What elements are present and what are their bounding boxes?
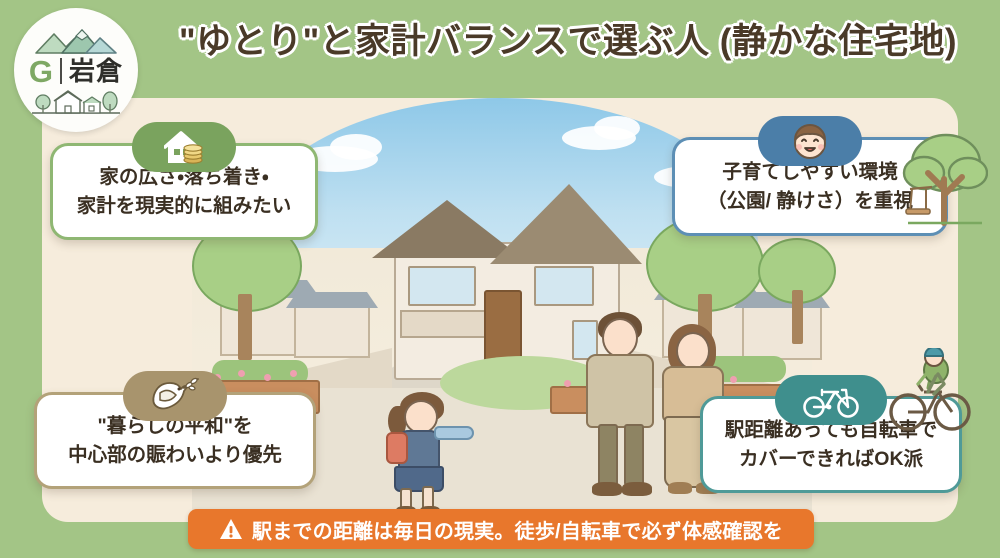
- callout-card-bottom-left[interactable]: "暮らしの平和"を 中心部の賑わいより優先: [34, 392, 316, 489]
- warning-triangle-icon: [219, 518, 243, 540]
- bicycle-icon: [775, 375, 887, 425]
- tree-trunk-icon: [792, 290, 803, 344]
- dove-with-olive-branch-icon: [123, 371, 227, 421]
- neighbor-house-icon: [742, 304, 822, 360]
- mountain-icon: [32, 25, 120, 55]
- callout-text-top-right: 子育てしやすい環境 （公園/ 静けさ）を重視: [695, 158, 925, 215]
- callout-card-top-left[interactable]: 家の広さ・落ち着き・ 家計を現実的に組みたい: [50, 143, 318, 240]
- cloud-icon: [330, 134, 382, 160]
- cyclist-icon: [884, 348, 976, 434]
- houses-row-icon: [30, 88, 122, 116]
- flower-icon: [564, 380, 571, 387]
- logo-divider: [60, 58, 62, 84]
- tree-trunk-icon: [238, 294, 252, 360]
- neighbor-house-icon: [294, 304, 370, 358]
- logo-brand-name: 岩倉: [69, 58, 123, 84]
- warning-banner: 駅までの距離は毎日の現実。徒歩/自転車で必ず体感確認を: [188, 509, 814, 549]
- warning-banner-text: 駅までの距離は毎日の現実。徒歩/自転車で必ず体感確認を: [252, 515, 783, 544]
- infographic-root: G 岩倉 "ゆとり"と家計バランスで選ぶ人 (静かな住宅地): [0, 0, 1000, 558]
- father-figure-icon: [582, 312, 658, 498]
- cloud-icon: [594, 116, 640, 140]
- flower-icon: [290, 370, 297, 377]
- brand-logo[interactable]: G 岩倉: [14, 8, 138, 132]
- tree-with-swing-icon: [896, 131, 988, 235]
- page-title: "ゆとり"と家計バランスで選ぶ人 (静かな住宅地): [148, 22, 988, 62]
- flower-icon: [264, 374, 271, 381]
- neighbor-roof-icon: [286, 292, 378, 308]
- child-face-icon: [758, 116, 862, 166]
- flower-icon: [238, 370, 245, 377]
- logo-g-mark: G: [29, 56, 53, 87]
- house-with-coins-icon: [132, 122, 236, 172]
- toy-plane-icon: [434, 426, 474, 440]
- child-with-toy-plane-icon: [386, 392, 470, 514]
